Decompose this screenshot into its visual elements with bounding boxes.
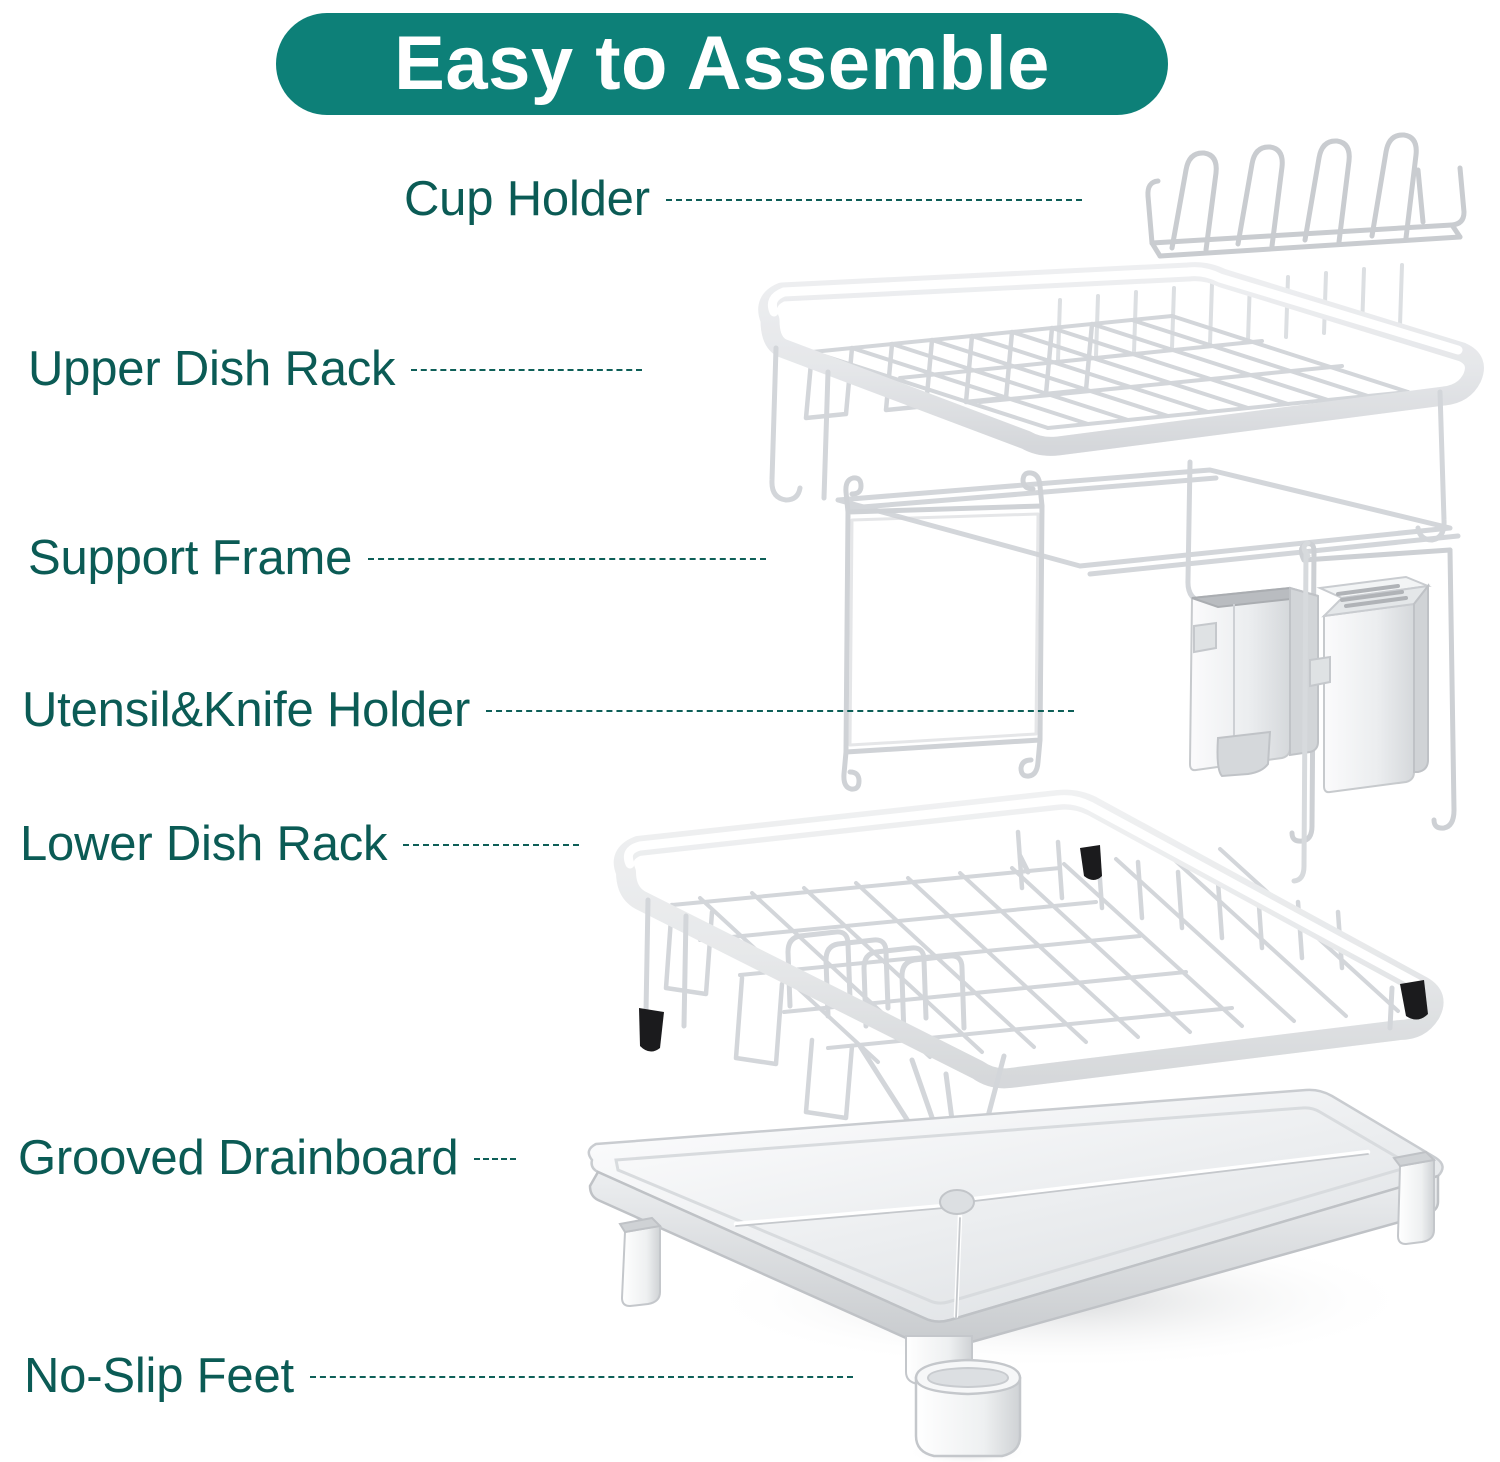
callout-cup-holder: Cup Holder <box>404 175 1082 224</box>
drainboard-corner-feet <box>620 1152 1434 1306</box>
support-frame-part <box>844 473 1042 789</box>
callout-utensil-knife-holder: Utensil&Knife Holder <box>22 686 1074 735</box>
utensil-cup <box>1190 588 1318 776</box>
callout-label: Upper Dish Rack <box>28 345 395 394</box>
callout-label: Support Frame <box>28 534 352 583</box>
page-title: Easy to Assemble <box>394 26 1050 102</box>
header-banner: Easy to Assemble <box>276 13 1168 115</box>
leader-line <box>310 1376 853 1378</box>
callout-lower-dish-rack: Lower Dish Rack <box>20 820 579 869</box>
lower-dish-rack-part <box>624 800 1434 1227</box>
callout-support-frame: Support Frame <box>28 534 766 583</box>
rack-foot-tips <box>639 845 1428 1227</box>
leader-line <box>411 369 642 371</box>
callout-label: Utensil&Knife Holder <box>22 686 470 735</box>
callout-grooved-drainboard: Grooved Drainboard <box>18 1134 516 1183</box>
leader-line <box>486 710 1074 712</box>
upper-dish-rack-part <box>768 265 1475 602</box>
callout-upper-dish-rack: Upper Dish Rack <box>28 345 642 394</box>
leader-line <box>403 844 579 846</box>
callout-no-slip-feet: No-Slip Feet <box>24 1352 853 1401</box>
leader-line <box>368 558 766 560</box>
leader-line <box>474 1158 516 1160</box>
callout-label: Lower Dish Rack <box>20 820 387 869</box>
infographic-page: Easy to Assemble <box>0 0 1500 1462</box>
knife-holder <box>1310 577 1428 792</box>
lower-rack-rim <box>624 800 1434 1079</box>
no-slip-foot-part <box>908 1360 1028 1462</box>
callout-label: Grooved Drainboard <box>18 1134 458 1183</box>
utensil-knife-holder-part <box>1190 543 1454 881</box>
callout-label: No-Slip Feet <box>24 1352 294 1401</box>
cup-holder-part <box>1148 135 1464 256</box>
callout-label: Cup Holder <box>404 175 650 224</box>
upper-rack-rim <box>768 272 1475 447</box>
leader-line <box>666 199 1082 201</box>
grooved-drainboard-part <box>589 1090 1443 1384</box>
